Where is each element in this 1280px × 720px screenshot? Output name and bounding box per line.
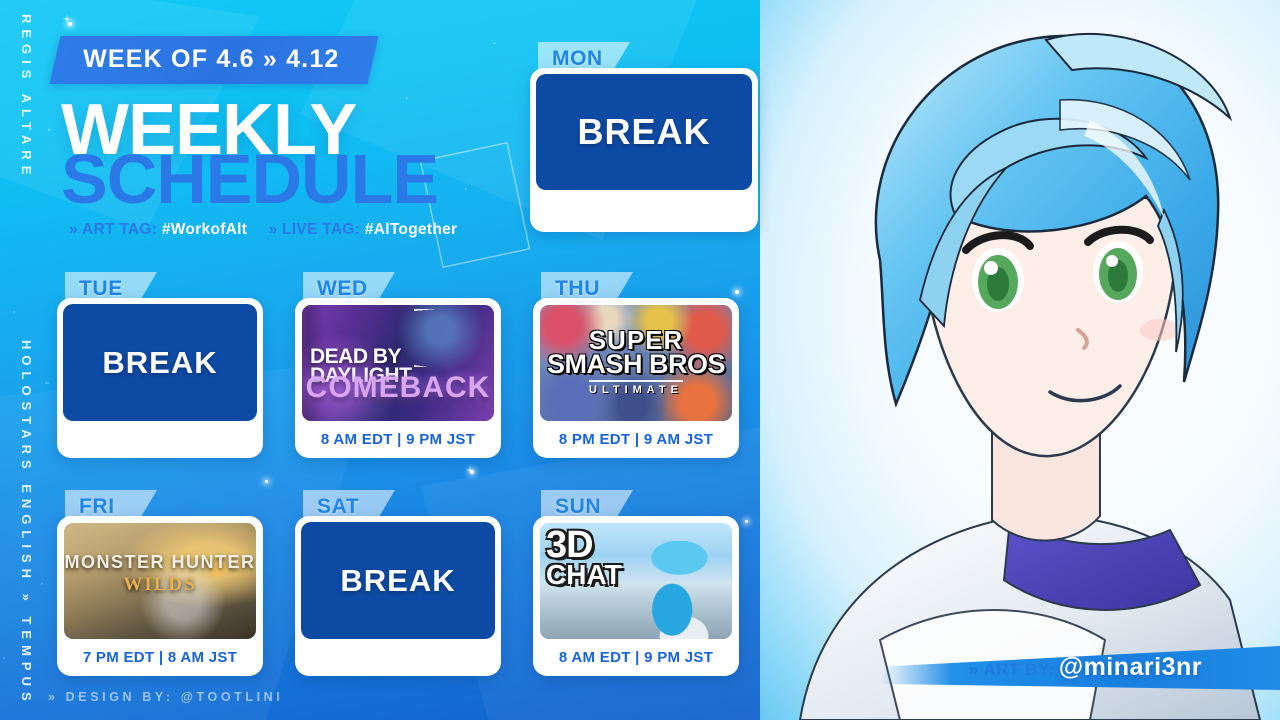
art-credit: » ART BY: @minari3nr: [969, 653, 1202, 682]
sparkle-star-icon: [60, 12, 74, 26]
thumbnail-wed: DEAD BY DAYLIGHT COMEBACK: [302, 305, 494, 421]
card-body-sat: BREAK: [295, 516, 501, 676]
header-block: WEEK OF 4.6 » 4.12 WEEKLY SCHEDULE » ART…: [55, 36, 525, 239]
art-tag-label: » ART TAG:: [69, 221, 157, 238]
time-tue: [57, 421, 263, 458]
schedule-card-tue[interactable]: TUE BREAK: [57, 272, 263, 460]
character-illustration: [760, 0, 1280, 720]
time-sat: [295, 639, 501, 676]
tagline-row: » ART TAG: #WorkofAlt » LIVE TAG: #AlTog…: [69, 221, 525, 239]
break-label-tue: BREAK: [102, 345, 217, 381]
card-body-thu: SUPER SMASH BROS ULTIMATE 8 PM EDT | 9 A…: [533, 298, 739, 458]
time-fri: 7 PM EDT | 8 AM JST: [57, 639, 263, 676]
time-mon: [530, 190, 758, 232]
live-tag-value: #AlTogether: [365, 221, 458, 238]
sparkle-dot: [470, 470, 474, 474]
card-body-wed: DEAD BY DAYLIGHT COMEBACK 8 AM EDT | 9 P…: [295, 298, 501, 458]
schedule-card-fri[interactable]: FRI MONSTER HUNTER WILDS 7 PM EDT | 8 AM…: [57, 490, 263, 678]
game-title-fri-line2: WILDS: [64, 574, 256, 596]
game-title-sun-line1: 3D: [546, 529, 622, 562]
art-credit-handle: @minari3nr: [1059, 653, 1202, 682]
time-wed: 8 AM EDT | 9 PM JST: [295, 421, 501, 458]
schedule-card-sun[interactable]: SUN 3D CHAT 8 AM EDT | 9 PM JST: [533, 490, 739, 678]
card-body-mon: BREAK: [530, 68, 758, 232]
game-title-fri-line1: MONSTER HUNTER: [64, 552, 256, 573]
thumbnail-mon: BREAK: [536, 74, 752, 190]
game-title-thu: SUPER SMASH BROS ULTIMATE: [540, 328, 732, 399]
sparkle-dot: [265, 480, 268, 483]
sparkle-dot: [745, 520, 748, 523]
character-artwork-svg: [760, 0, 1280, 720]
art-credit-label: » ART BY:: [969, 660, 1055, 680]
page-title-line2: SCHEDULE: [61, 149, 525, 209]
schedule-card-sat[interactable]: SAT BREAK: [295, 490, 501, 678]
break-label-sat: BREAK: [340, 563, 455, 599]
time-thu: 8 PM EDT | 9 AM JST: [533, 421, 739, 458]
card-body-fri: MONSTER HUNTER WILDS 7 PM EDT | 8 AM JST: [57, 516, 263, 676]
game-title-thu-line2: SMASH BROS: [540, 352, 732, 377]
time-sun: 8 AM EDT | 9 PM JST: [533, 639, 739, 676]
game-title-fri: MONSTER HUNTER WILDS: [64, 552, 256, 596]
schedule-graphic: REGIS ALTARE HOLOSTARS ENGLISH » TEMPUS …: [0, 0, 1280, 720]
thumbnail-sun: 3D CHAT: [540, 523, 732, 639]
break-label-mon: BREAK: [577, 111, 710, 153]
week-range-banner: WEEK OF 4.6 » 4.12: [49, 36, 379, 84]
game-subtitle-wed: COMEBACK: [302, 371, 494, 405]
sparkle-star-icon: [463, 463, 477, 477]
schedule-card-mon[interactable]: MON BREAK: [530, 42, 758, 232]
game-subtitle-thu: ULTIMATE: [589, 380, 683, 396]
org-name-vertical: HOLOSTARS ENGLISH » TEMPUS: [19, 340, 34, 720]
schedule-card-thu[interactable]: THU SUPER SMASH BROS ULTIMATE 8 PM EDT |…: [533, 272, 739, 460]
live-tag-label: » LIVE TAG:: [268, 221, 360, 238]
game-title-sun-line2: CHAT: [546, 562, 622, 587]
thumbnail-tue: BREAK: [63, 304, 257, 421]
design-credit: » DESIGN BY: @TOOTLINI: [48, 690, 283, 704]
schedule-card-wed[interactable]: WED DEAD BY DAYLIGHT COMEBACK 8 AM EDT |…: [295, 272, 501, 460]
game-title-sun: 3D CHAT: [546, 529, 622, 588]
sparkle-dot: [68, 22, 72, 26]
art-tag-value: #WorkofAlt: [162, 221, 247, 238]
thumbnail-fri: MONSTER HUNTER WILDS: [64, 523, 256, 639]
card-body-tue: BREAK: [57, 298, 263, 458]
thumbnail-sat: BREAK: [301, 522, 495, 639]
thumbnail-thu: SUPER SMASH BROS ULTIMATE: [540, 305, 732, 421]
card-body-sun: 3D CHAT 8 AM EDT | 9 PM JST: [533, 516, 739, 676]
week-range-text: WEEK OF 4.6 » 4.12: [83, 45, 339, 74]
